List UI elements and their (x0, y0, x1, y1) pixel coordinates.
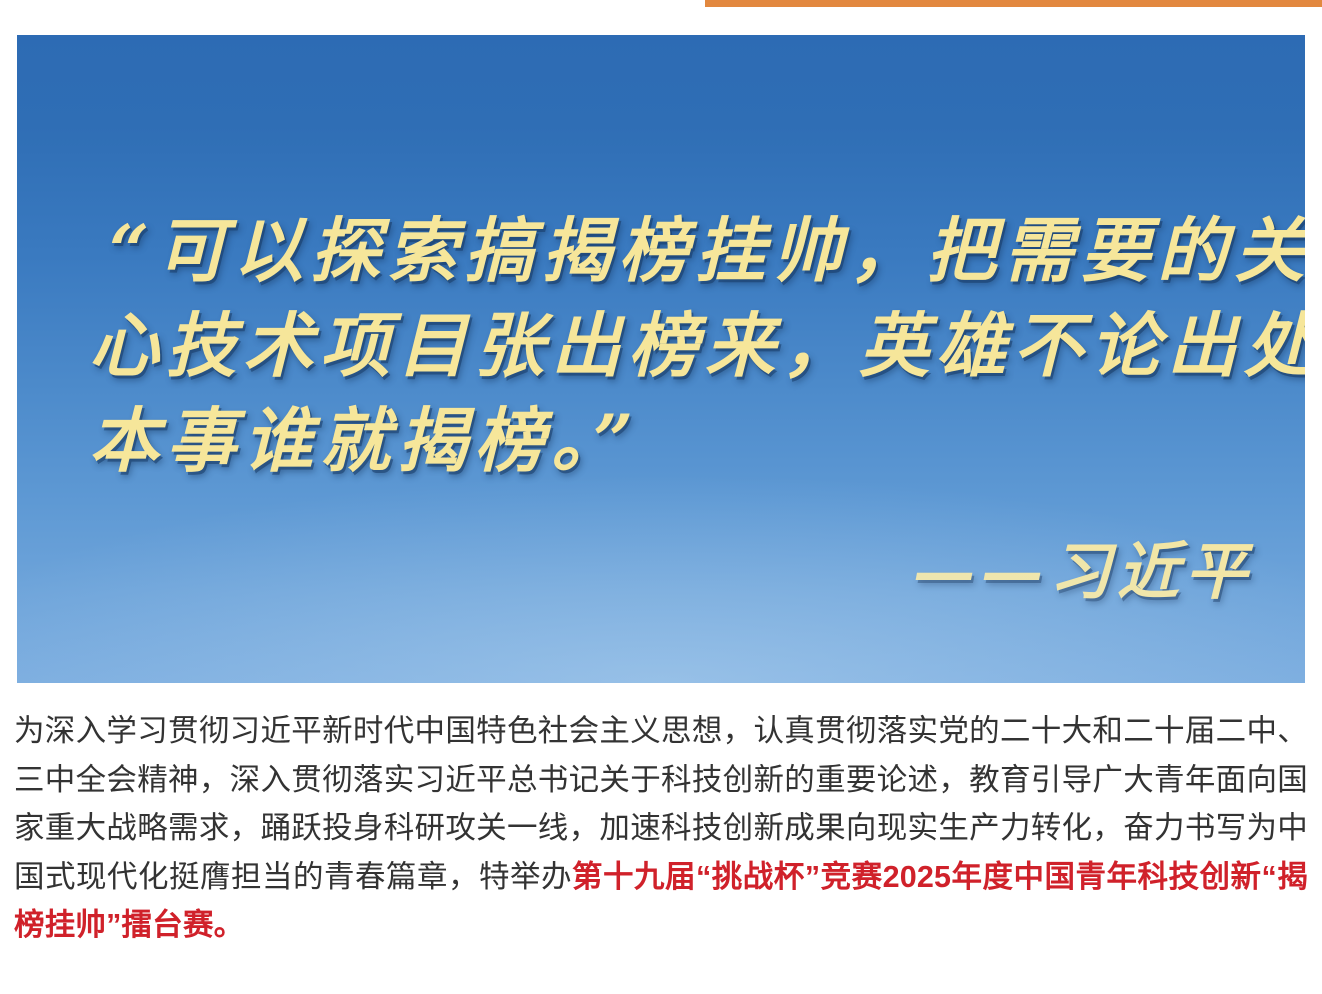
announcement-paragraph: 为深入学习贯彻习近平新时代中国特色社会主义思想，认真贯彻落实党的二十大和二十届二… (14, 707, 1308, 950)
hero-banner-image: “可以探索搞揭榜挂帅，把需要的关键核 心技术项目张出榜来，英雄不论出处，谁有 本… (17, 35, 1305, 683)
quote-line-2: 心技术项目张出榜来，英雄不论出处，谁有 (89, 298, 1245, 393)
quote-attribution: ——习近平 (913, 533, 1253, 611)
quote-line-1: “可以探索搞揭榜挂帅，把需要的关键核 (109, 203, 1245, 298)
quote-line-3: 本事谁就揭榜。” (89, 393, 1245, 488)
quote-calligraphy-block: “可以探索搞揭榜挂帅，把需要的关键核 心技术项目张出榜来，英雄不论出处，谁有 本… (17, 203, 1305, 488)
top-accent-bar (705, 0, 1322, 7)
